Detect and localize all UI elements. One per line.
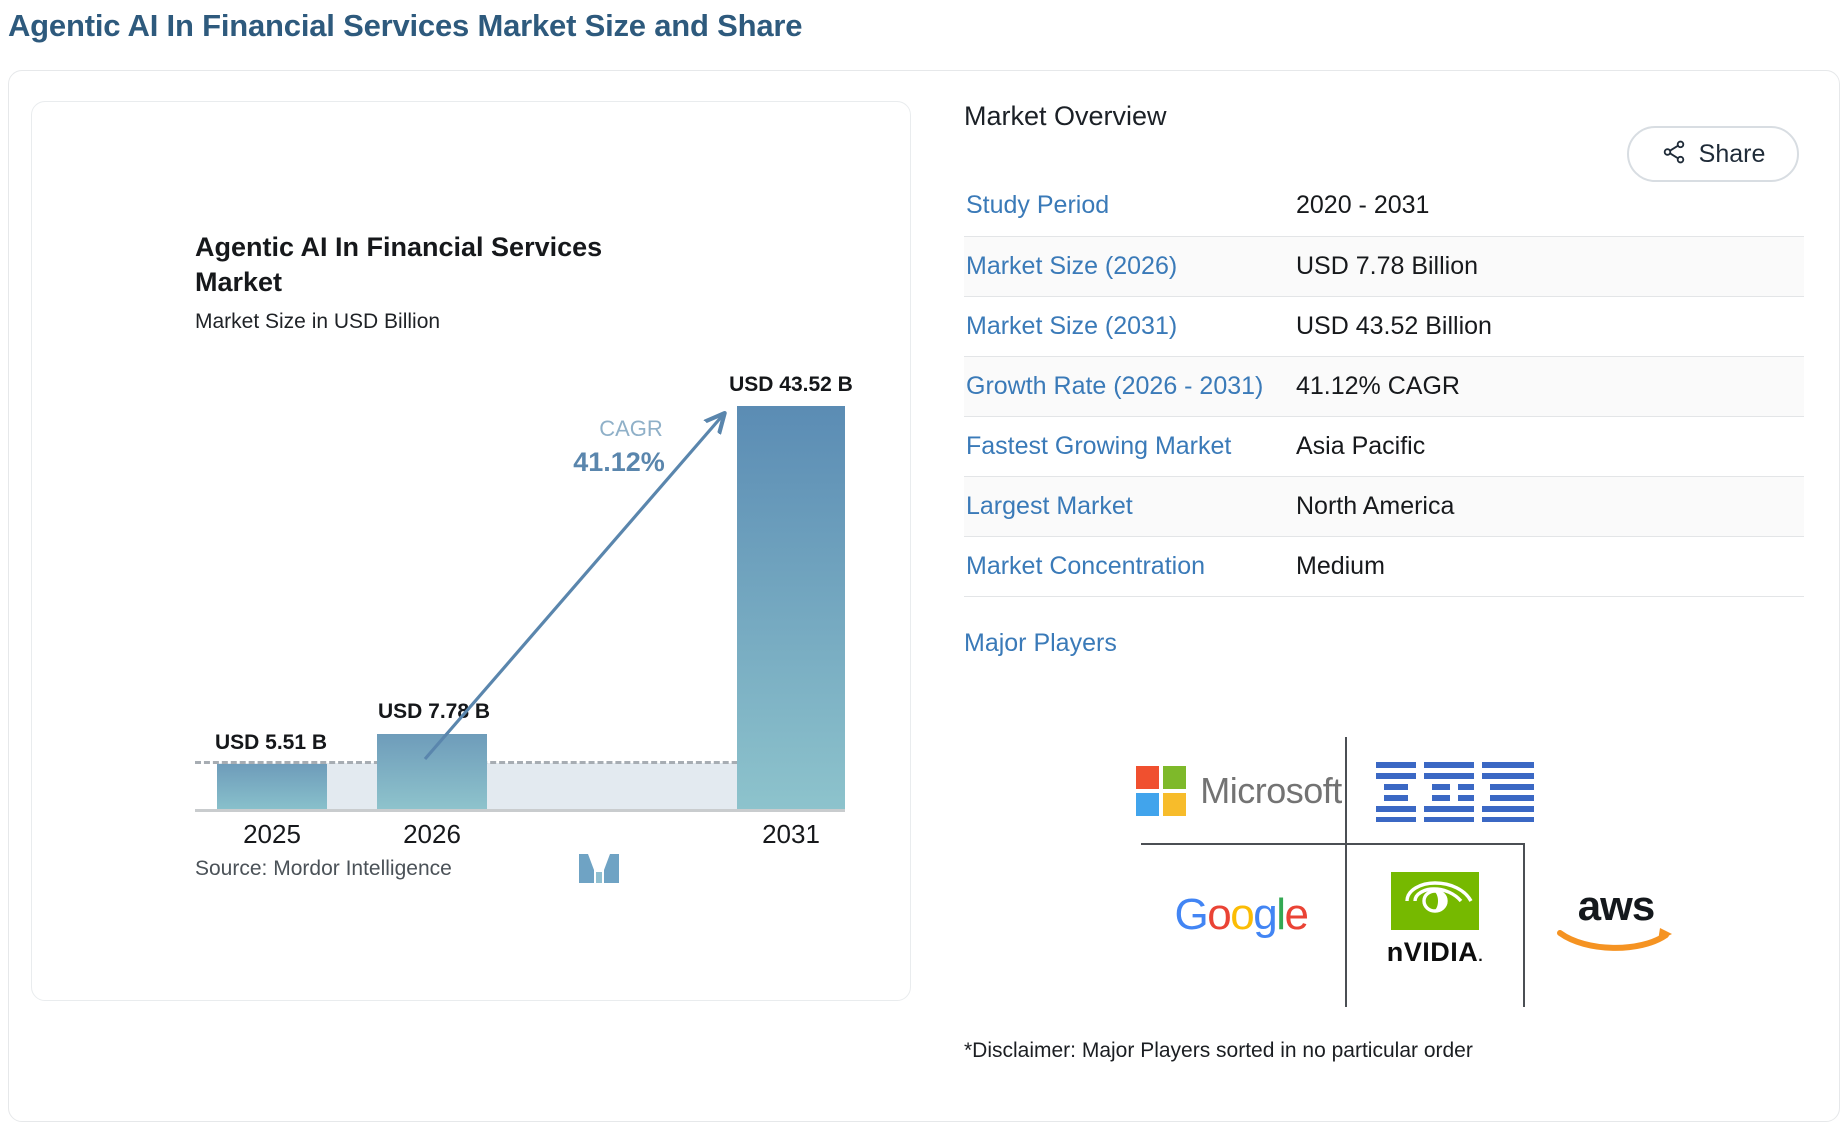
market-overview-table: Study Period 2020 - 2031 Market Size (20…	[964, 176, 1804, 597]
market-overview-panel: Market Overview Study Period 2020 - 2031…	[964, 101, 1804, 658]
logo-aws[interactable]: aws	[1541, 875, 1691, 971]
x-tick-2025: 2025	[192, 819, 352, 850]
row-value-market-size-2031: USD 43.52 Billion	[1296, 296, 1804, 356]
logo-divider-horizontal-left	[1141, 843, 1345, 845]
row-value-fastest-growing-market: Asia Pacific	[1296, 416, 1804, 476]
bar-label-2025: USD 5.51 B	[189, 731, 353, 755]
x-tick-2026: 2026	[352, 819, 512, 850]
row-key-largest-market: Largest Market	[964, 476, 1296, 536]
row-key-market-size-2031: Market Size (2031)	[964, 296, 1296, 356]
bar-label-2031: USD 43.52 B	[711, 373, 871, 397]
nvidia-eye-icon	[1391, 872, 1479, 935]
source-key: Source:	[195, 857, 267, 880]
nvidia-wordmark: nVIDIA.	[1387, 937, 1483, 968]
logo-nvidia[interactable]: nVIDIA.	[1365, 865, 1505, 975]
bar-2031[interactable]	[737, 406, 845, 809]
table-row: Fastest Growing Market Asia Pacific	[964, 416, 1804, 476]
x-tick-2031: 2031	[711, 819, 871, 850]
row-value-largest-market: North America	[1296, 476, 1804, 536]
players-disclaimer: *Disclaimer: Major Players sorted in no …	[964, 1039, 1473, 1063]
table-row: Study Period 2020 - 2031	[964, 176, 1804, 236]
row-value-growth-rate: 41.12% CAGR	[1296, 356, 1804, 416]
report-card: Share Agentic AI In Financial Services M…	[8, 70, 1840, 1122]
bar-2025[interactable]	[217, 764, 327, 809]
logo-divider-horizontal-center	[1345, 843, 1523, 845]
row-value-market-size-2026: USD 7.78 Billion	[1296, 236, 1804, 296]
major-players-logos: Microsoft	[1129, 737, 1669, 1007]
chart-subtitle: Market Size in USD Billion	[195, 310, 440, 334]
table-row: Largest Market North America	[964, 476, 1804, 536]
logo-divider-vertical-middle-left	[1345, 843, 1347, 1007]
source-value: Mordor Intelligence	[273, 857, 452, 880]
logo-ibm[interactable]	[1365, 757, 1545, 825]
bar-label-2026: USD 7.78 B	[352, 700, 516, 724]
row-key-market-concentration: Market Concentration	[964, 536, 1296, 596]
row-key-fastest-growing-market: Fastest Growing Market	[964, 416, 1296, 476]
cagr-label: CAGR	[571, 416, 691, 442]
row-key-market-size-2026: Market Size (2026)	[964, 236, 1296, 296]
market-overview-title: Market Overview	[964, 101, 1804, 132]
logo-microsoft[interactable]: Microsoft	[1139, 757, 1339, 825]
row-value-market-concentration: Medium	[1296, 536, 1804, 596]
table-row: Market Size (2031) USD 43.52 Billion	[964, 296, 1804, 356]
logo-divider-vertical-top	[1345, 737, 1347, 843]
cagr-value: 41.12%	[559, 447, 679, 478]
aws-smile-icon	[1556, 925, 1676, 960]
logo-google[interactable]: Google	[1151, 885, 1331, 945]
google-wordmark-icon: Google	[1175, 890, 1308, 940]
mordor-intelligence-logo	[577, 850, 621, 891]
bar-chart-plot: USD 5.51 B USD 7.78 B USD 43.52 B CAGR 4…	[195, 357, 855, 812]
logo-divider-vertical-middle-right	[1523, 843, 1525, 1007]
page-title: Agentic AI In Financial Services Market …	[8, 8, 802, 44]
microsoft-squares-icon	[1136, 766, 1186, 816]
row-value-study-period: 2020 - 2031	[1296, 176, 1804, 236]
table-row: Market Concentration Medium	[964, 536, 1804, 596]
chart-title: Agentic AI In Financial Services Market	[195, 230, 665, 299]
major-players-label: Major Players	[964, 629, 1804, 658]
row-key-study-period: Study Period	[964, 176, 1296, 236]
screenshot-root: Agentic AI In Financial Services Market …	[0, 0, 1848, 1132]
chart-source: Source: Mordor Intelligence	[195, 857, 452, 881]
chart-panel: Agentic AI In Financial Services Market …	[31, 101, 911, 1001]
row-key-growth-rate: Growth Rate (2026 - 2031)	[964, 356, 1296, 416]
table-row: Market Size (2026) USD 7.78 Billion	[964, 236, 1804, 296]
ibm-wordmark-icon	[1376, 760, 1534, 822]
x-axis-line	[195, 809, 845, 812]
aws-wordmark: aws	[1578, 886, 1654, 926]
bar-2026[interactable]	[377, 734, 487, 809]
microsoft-wordmark: Microsoft	[1200, 770, 1342, 812]
table-row: Growth Rate (2026 - 2031) 41.12% CAGR	[964, 356, 1804, 416]
